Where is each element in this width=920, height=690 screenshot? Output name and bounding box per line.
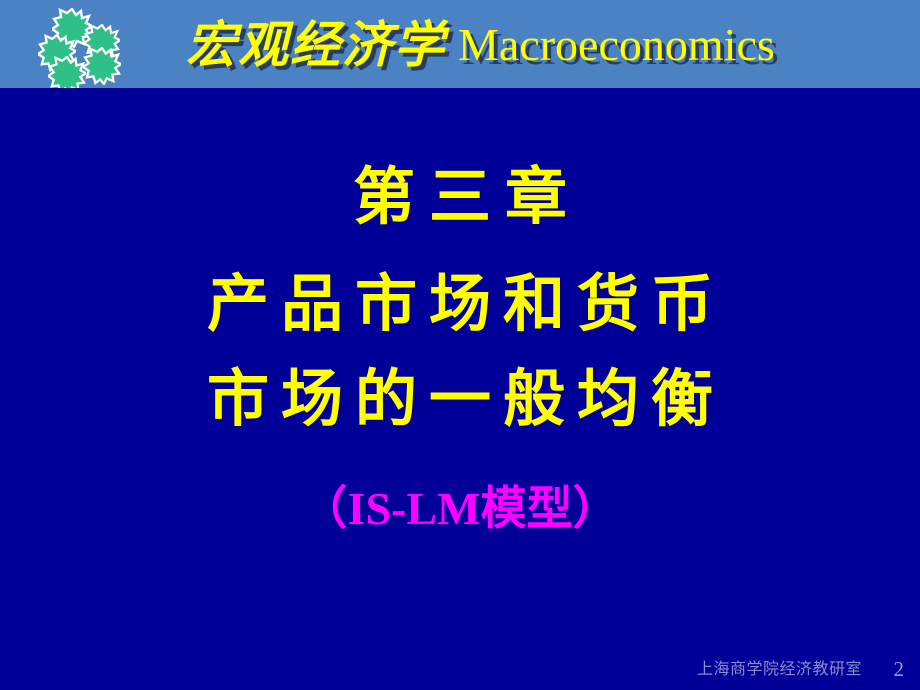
- slide-footer: 上海商学院经济教研室 2: [0, 654, 920, 684]
- slide-header-band: 宏观经济学 Macroeconomics: [0, 0, 920, 88]
- slide-body: 第三章 产品市场和货币 市场的一般均衡 （IS-LM模型）: [0, 88, 920, 690]
- slide-header-title: 宏观经济学 Macroeconomics: [186, 6, 886, 84]
- header-title-chinese: 宏观经济学: [186, 20, 458, 70]
- presentation-slide: 宏观经济学 Macroeconomics 第三章 产品市场和货币 市场的一般均衡…: [0, 0, 920, 690]
- starburst-icon-5: [48, 56, 86, 88]
- starburst-cluster-logo: [26, 6, 130, 86]
- chapter-heading-line-1: 第三章: [0, 166, 920, 228]
- header-title-english: Macroeconomics: [458, 22, 775, 68]
- chapter-subtitle: （IS-LM模型）: [0, 486, 920, 532]
- footer-organization-label: 上海商学院经济教研室: [697, 655, 862, 679]
- footer-page-number: 2: [894, 657, 905, 682]
- chapter-heading-line-2: 产品市场和货币: [0, 273, 920, 335]
- starburst-icon-4: [83, 47, 121, 85]
- chapter-heading-line-3: 市场的一般均衡: [0, 368, 920, 430]
